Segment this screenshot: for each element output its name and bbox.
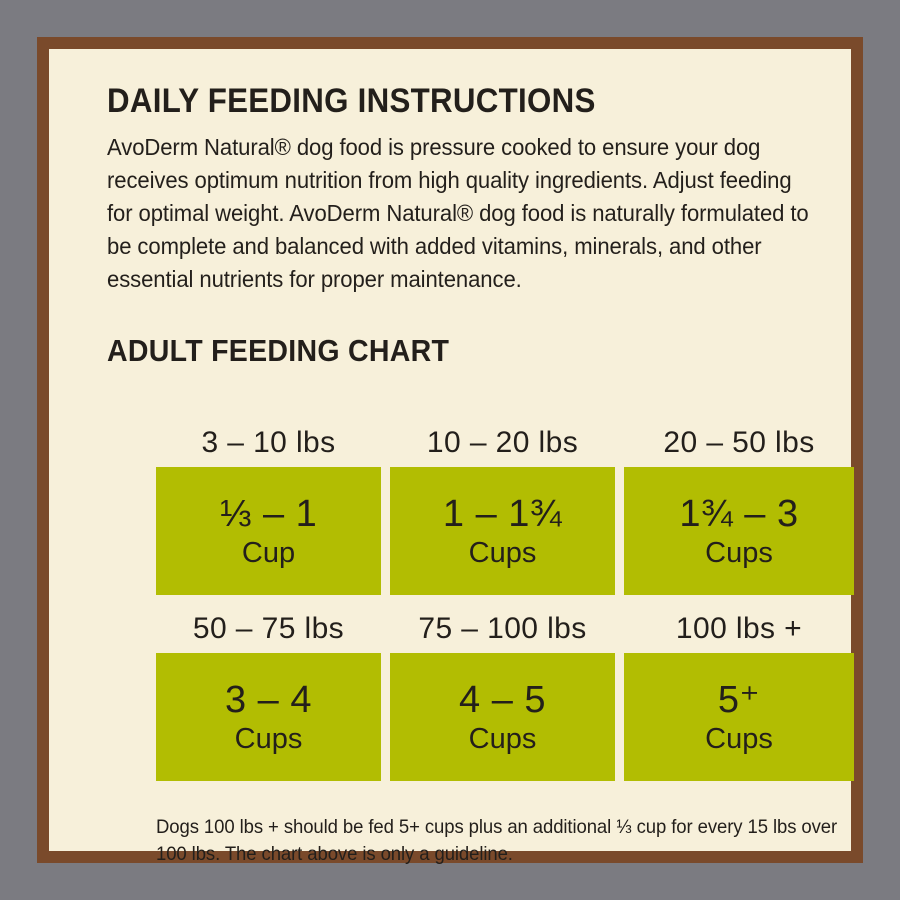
weight-header: 100 lbs + <box>624 605 854 653</box>
amount-value: 1 – 1¾ <box>443 493 562 535</box>
amount-unit: Cups <box>705 537 773 570</box>
amount-unit: Cups <box>469 537 537 570</box>
adult-feeding-chart: 3 – 10 lbs ⅓ – 1 Cup 10 – 20 lbs 1 – 1¾ … <box>156 419 854 781</box>
amount-value: ⅓ – 1 <box>220 493 318 535</box>
feeding-amount-cell: 1¾ – 3 Cups <box>624 467 854 595</box>
weight-header: 3 – 10 lbs <box>156 419 381 467</box>
amount-unit: Cups <box>235 723 303 756</box>
amount-unit: Cups <box>469 723 537 756</box>
feeding-instructions-panel: DAILY FEEDING INSTRUCTIONS AvoDerm Natur… <box>37 37 863 863</box>
feeding-amount-cell: 1 – 1¾ Cups <box>390 467 615 595</box>
page-title: DAILY FEEDING INSTRUCTIONS <box>107 82 760 121</box>
weight-header: 75 – 100 lbs <box>390 605 615 653</box>
amount-unit: Cup <box>242 537 295 570</box>
chart-column-100-plus: 100 lbs + 5⁺ Cups <box>624 605 854 781</box>
amount-value: 3 – 4 <box>225 679 312 721</box>
chart-footnote: Dogs 100 lbs + should be fed 5+ cups plu… <box>156 814 861 868</box>
weight-header: 10 – 20 lbs <box>390 419 615 467</box>
chart-column-75-100: 75 – 100 lbs 4 – 5 Cups <box>390 605 615 781</box>
amount-value: 4 – 5 <box>459 679 546 721</box>
chart-row: 50 – 75 lbs 3 – 4 Cups 75 – 100 lbs 4 – … <box>156 605 854 781</box>
feeding-amount-cell: 4 – 5 Cups <box>390 653 615 781</box>
intro-paragraph: AvoDerm Natural® dog food is pressure co… <box>107 131 814 296</box>
amount-unit: Cups <box>705 723 773 756</box>
weight-header: 50 – 75 lbs <box>156 605 381 653</box>
text-block: DAILY FEEDING INSTRUCTIONS AvoDerm Natur… <box>107 82 817 375</box>
feeding-amount-cell: ⅓ – 1 Cup <box>156 467 381 595</box>
chart-column-50-75: 50 – 75 lbs 3 – 4 Cups <box>156 605 381 781</box>
weight-header: 20 – 50 lbs <box>624 419 854 467</box>
chart-column-10-20: 10 – 20 lbs 1 – 1¾ Cups <box>390 419 615 595</box>
amount-value: 1¾ – 3 <box>679 493 798 535</box>
amount-value: 5⁺ <box>718 679 760 721</box>
chart-column-20-50: 20 – 50 lbs 1¾ – 3 Cups <box>624 419 854 595</box>
chart-column-3-10: 3 – 10 lbs ⅓ – 1 Cup <box>156 419 381 595</box>
chart-row: 3 – 10 lbs ⅓ – 1 Cup 10 – 20 lbs 1 – 1¾ … <box>156 419 854 595</box>
feeding-amount-cell: 5⁺ Cups <box>624 653 854 781</box>
feeding-amount-cell: 3 – 4 Cups <box>156 653 381 781</box>
chart-title: ADULT FEEDING CHART <box>107 333 760 369</box>
